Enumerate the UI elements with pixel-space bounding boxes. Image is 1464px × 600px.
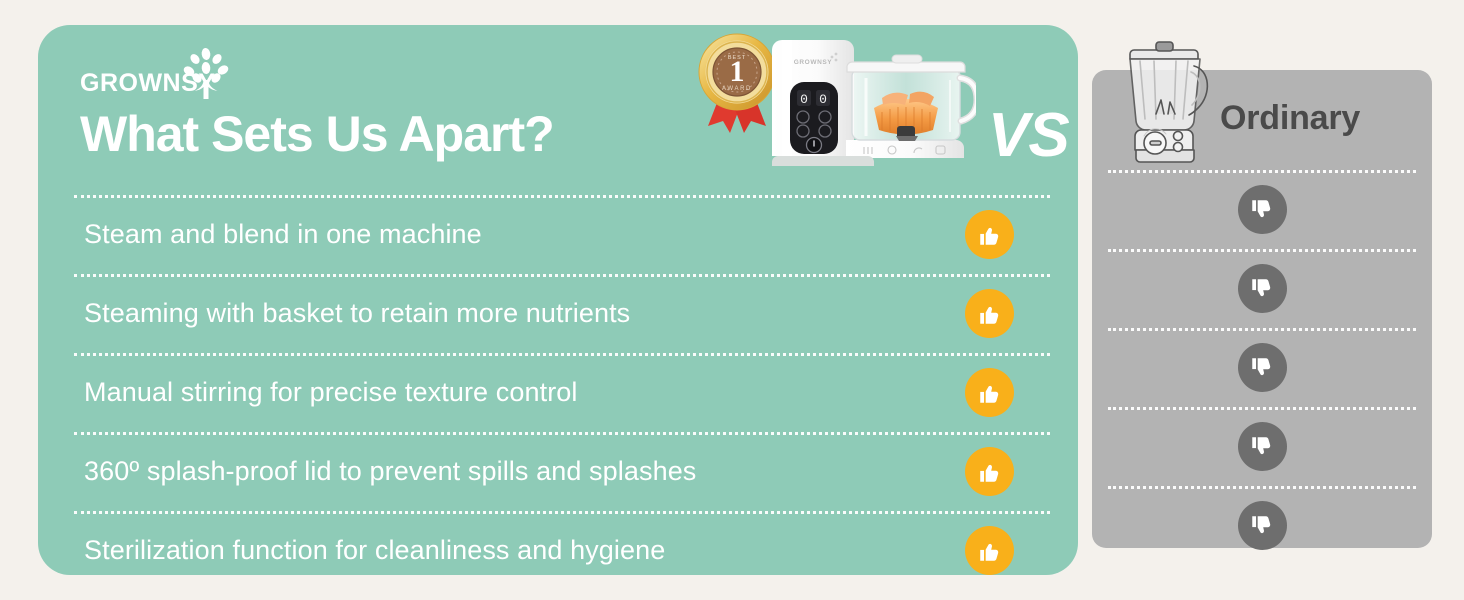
feature-row: Manual stirring for precise texture cont…: [38, 353, 1078, 432]
feature-label: Sterilization function for cleanliness a…: [84, 511, 665, 575]
product-image: BEST 1 AWARD GROWNSY 0 0: [686, 25, 976, 190]
feature-list: Steam and blend in one machine Steaming …: [38, 195, 1078, 575]
thumbs-up-icon: [965, 368, 1014, 417]
feature-row: Steaming with basket to retain more nutr…: [38, 274, 1078, 353]
svg-text:GROWNSY: GROWNSY: [794, 59, 833, 66]
ordinary-verdict-row: [1092, 249, 1432, 328]
thumbs-up-icon: [965, 210, 1014, 259]
feature-verdict: [950, 432, 1029, 511]
brand-logo: GROWNSY: [80, 47, 240, 99]
row-divider: [1108, 486, 1416, 489]
thumbs-down-icon: [1238, 343, 1287, 392]
feature-label: Steam and blend in one machine: [84, 195, 482, 274]
svg-text:1: 1: [730, 55, 745, 88]
ordinary-verdict-list: [1092, 170, 1432, 548]
ordinary-verdict-row: [1092, 486, 1432, 565]
feature-label: 360º splash-proof lid to prevent spills …: [84, 432, 696, 511]
grownsy-card: GROWNSY What Sets Us Apart? VS: [38, 25, 1078, 575]
ordinary-title: Ordinary: [1220, 96, 1430, 140]
vs-label: VS: [988, 100, 1069, 171]
feature-row: Steam and blend in one machine: [38, 195, 1078, 274]
svg-text:AWARD: AWARD: [722, 86, 752, 92]
row-divider: [1108, 170, 1416, 173]
feature-verdict: [950, 274, 1029, 353]
feature-verdict: [950, 195, 1029, 274]
ordinary-panel: Ordinary: [1092, 70, 1432, 548]
feature-label: Manual stirring for precise texture cont…: [84, 353, 578, 432]
thumbs-up-icon: [965, 526, 1014, 575]
tree-icon: [176, 47, 236, 99]
thumbs-down-icon: [1238, 185, 1287, 234]
ordinary-verdict-row: [1092, 328, 1432, 407]
svg-text:0: 0: [819, 92, 827, 107]
thumbs-down-icon: [1238, 422, 1287, 471]
row-divider: [1108, 249, 1416, 252]
thumbs-down-icon: [1238, 264, 1287, 313]
feature-row: 360º splash-proof lid to prevent spills …: [38, 432, 1078, 511]
blender-icon: [1110, 28, 1220, 168]
ordinary-verdict-row: [1092, 170, 1432, 249]
row-divider: [1108, 407, 1416, 410]
thumbs-down-icon: [1238, 501, 1287, 550]
page-title: What Sets Us Apart?: [80, 103, 554, 165]
ordinary-verdict-row: [1092, 407, 1432, 486]
feature-verdict: [950, 353, 1029, 432]
comparison-infographic: Ordinary: [0, 0, 1464, 600]
thumbs-up-icon: [965, 447, 1014, 496]
svg-text:0: 0: [800, 92, 808, 107]
feature-row: Sterilization function for cleanliness a…: [38, 511, 1078, 575]
feature-verdict: [950, 511, 1029, 575]
thumbs-up-icon: [965, 289, 1014, 338]
ordinary-header: Ordinary: [1092, 70, 1432, 170]
row-divider: [1108, 328, 1416, 331]
feature-label: Steaming with basket to retain more nutr…: [84, 274, 630, 353]
